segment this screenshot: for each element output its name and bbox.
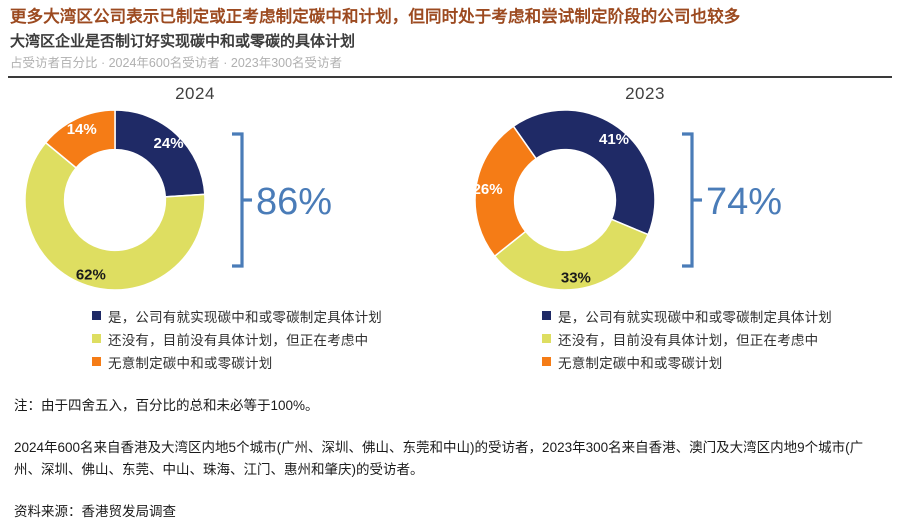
- chart-year-label-2024: 2024: [0, 84, 450, 104]
- slice-value-label-2023-0: 41%: [599, 131, 629, 148]
- legend-item-no-2024[interactable]: 无意制定碳中和或零碳计划: [92, 350, 450, 373]
- legend-label: 还没有，目前没有具体计划，但正在考虑中: [108, 329, 368, 349]
- legend-swatch-navy-icon: [92, 311, 101, 320]
- bracket-total-2023: 74%: [706, 181, 782, 223]
- slice-value-label-2023-1: 33%: [561, 270, 591, 287]
- page-title: 大湾区企业是否制订好实现碳中和或零碳的具体计划: [10, 31, 890, 54]
- slice-value-label-2024-0: 24%: [154, 135, 184, 152]
- legend-label: 是，公司有就实现碳中和或零碳制定具体计划: [108, 306, 382, 326]
- legend-label: 无意制定碳中和或零碳计划: [108, 352, 272, 372]
- footnotes: 注：由于四舍五入，百分比的总和未必等于100%。 2024年600名来自香港及大…: [14, 396, 886, 523]
- chart-panel-2023: 2023 41%33%26% 74% 是，公司有就实现碳中和或零碳制定具体计划 …: [450, 84, 900, 373]
- legend-2024: 是，公司有就实现碳中和或零碳制定具体计划 还没有，目前没有具体计划，但正在考虑中…: [0, 304, 450, 373]
- charts-container: 2024 24%62%14% 86% 是，公司有就实现碳中和或零碳制定具体计划 …: [0, 84, 900, 373]
- legend-swatch-yellow-icon: [92, 334, 101, 343]
- donut-wrap-2023: 41%33%26% 74%: [450, 106, 900, 296]
- slice-value-label-2024-1: 62%: [76, 267, 106, 284]
- legend-item-yes-2023[interactable]: 是，公司有就实现碳中和或零碳制定具体计划: [542, 304, 900, 327]
- legend-item-yes-2024[interactable]: 是，公司有就实现碳中和或零碳制定具体计划: [92, 304, 450, 327]
- legend-label: 是，公司有就实现碳中和或零碳制定具体计划: [558, 306, 832, 326]
- slice-value-label-2024-2: 14%: [67, 121, 97, 138]
- bracket-2023: [682, 134, 692, 266]
- rounding-note: 注：由于四舍五入，百分比的总和未必等于100%。: [14, 396, 886, 417]
- chart-year-label-2023: 2023: [390, 84, 900, 104]
- bracket-2024: [232, 134, 242, 266]
- legend-swatch-orange-icon: [542, 357, 551, 366]
- bracket-total-2024: 86%: [256, 181, 332, 223]
- chart-header: 更多大湾区公司表示已制定或正考虑制定碳中和计划，但同时处于考虑和尝试制定阶段的公…: [0, 0, 900, 73]
- legend-label: 还没有，目前没有具体计划，但正在考虑中: [558, 329, 818, 349]
- chart-panel-2024: 2024 24%62%14% 86% 是，公司有就实现碳中和或零碳制定具体计划 …: [0, 84, 450, 373]
- source-note: 资料来源：香港贸发局调查: [14, 502, 886, 523]
- legend-2023: 是，公司有就实现碳中和或零碳制定具体计划 还没有，目前没有具体计划，但正在考虑中…: [450, 304, 900, 373]
- donut-chart-2023: 41%33%26% 74%: [470, 106, 900, 296]
- donut-wrap-2024: 24%62%14% 86%: [0, 106, 450, 296]
- donut-slice-2023-0[interactable]: [513, 110, 655, 235]
- legend-item-notyet-2023[interactable]: 还没有，目前没有具体计划，但正在考虑中: [542, 327, 900, 350]
- legend-swatch-navy-icon: [542, 311, 551, 320]
- legend-label: 无意制定碳中和或零碳计划: [558, 352, 722, 372]
- donut-chart-2024: 24%62%14% 86%: [20, 106, 450, 296]
- donut-slice-2024-0[interactable]: [115, 110, 205, 197]
- legend-item-no-2023[interactable]: 无意制定碳中和或零碳计划: [542, 350, 900, 373]
- methodology-note: 2024年600名来自香港及大湾区内地5个城市(广州、深圳、佛山、东莞和中山)的…: [14, 437, 886, 480]
- legend-swatch-orange-icon: [92, 357, 101, 366]
- chart-subtitle: 占受访者百分比 · 2024年600名受访者 · 2023年300名受访者: [10, 54, 890, 73]
- slice-value-label-2023-2: 26%: [473, 181, 503, 198]
- header-divider: [8, 76, 892, 78]
- legend-item-notyet-2024[interactable]: 还没有，目前没有具体计划，但正在考虑中: [92, 327, 450, 350]
- headline: 更多大湾区公司表示已制定或正考虑制定碳中和计划，但同时处于考虑和尝试制定阶段的公…: [10, 6, 890, 30]
- legend-swatch-yellow-icon: [542, 334, 551, 343]
